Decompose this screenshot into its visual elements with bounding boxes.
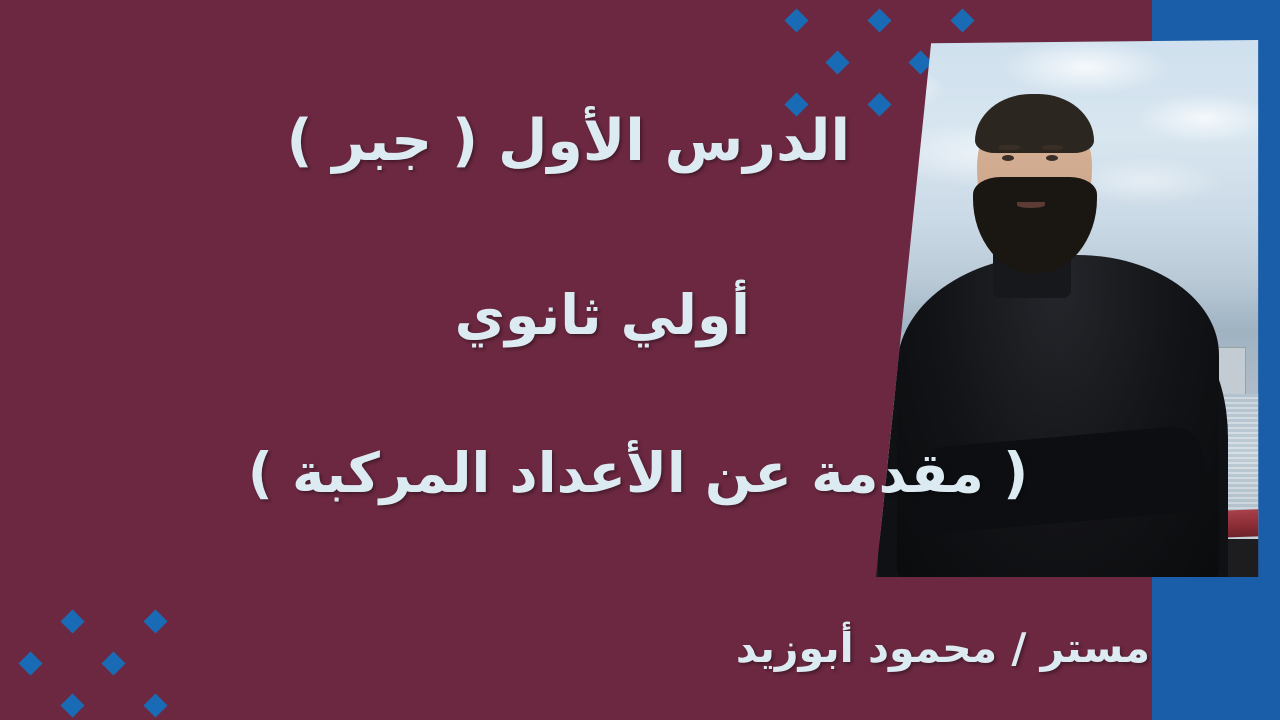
person-figure <box>800 40 1260 577</box>
eyebrow-left <box>999 145 1020 150</box>
eyebrow-right <box>1042 145 1063 150</box>
skyline-building <box>846 332 883 416</box>
decorative-dots-bottom-left <box>0 595 230 720</box>
lesson-title-slide: الدرس الأول ( جبر ) أولي ثانوي ( مقدمة ع… <box>0 0 1280 720</box>
skyline-building <box>818 354 841 416</box>
diamond-dot <box>867 92 891 116</box>
diamond-dot <box>950 8 974 32</box>
diamond-dot <box>825 50 849 74</box>
lesson-title-line-1: الدرس الأول ( جبر ) <box>287 110 851 173</box>
diamond-dot <box>60 693 84 717</box>
diamond-dot <box>784 8 808 32</box>
diamond-dot <box>18 651 42 675</box>
mouth <box>1017 202 1045 208</box>
photo-background <box>800 40 1260 577</box>
diamond-dot <box>143 693 167 717</box>
diamond-dot <box>143 609 167 633</box>
diamond-dot <box>101 651 125 675</box>
diamond-dot <box>60 609 84 633</box>
grade-level-line: أولي ثانوي <box>455 285 750 346</box>
diamond-dot <box>784 92 808 116</box>
diamond-dot <box>867 8 891 32</box>
presenter-photo <box>800 40 1260 577</box>
presenter-name: مستر / محمود أبوزيد <box>736 626 1150 671</box>
hair <box>975 94 1095 153</box>
